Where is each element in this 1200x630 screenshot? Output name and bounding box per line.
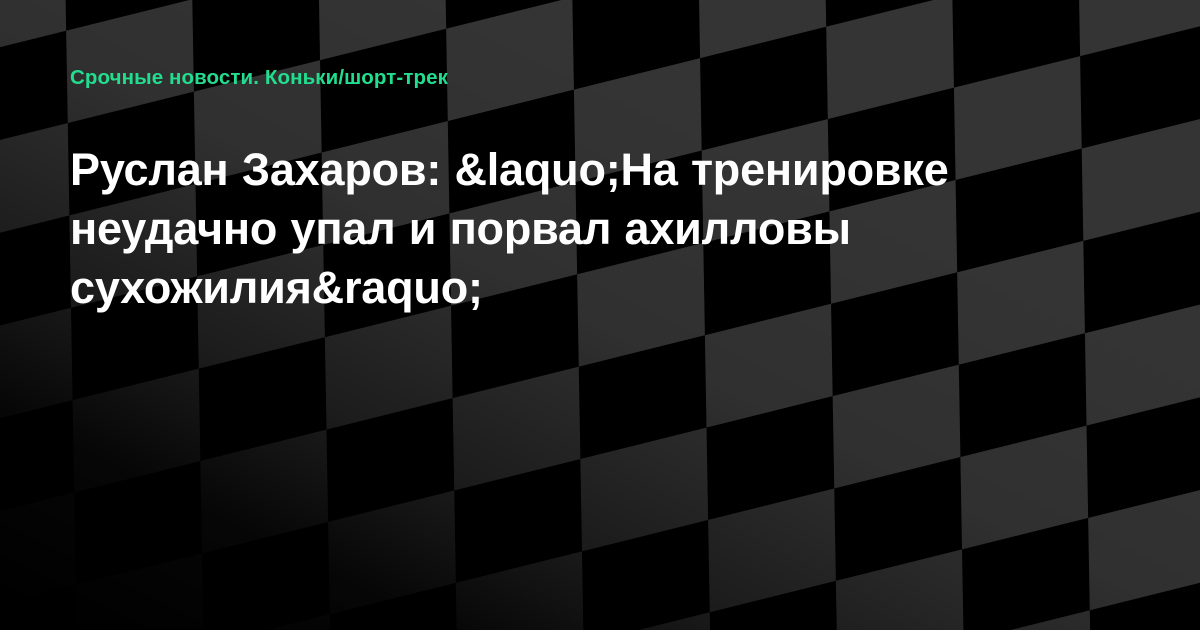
page-title: Руслан Захаров: &laquo;На тренировке неу… [70, 140, 1060, 317]
social-share-card: Срочные новости. Коньки/шорт-трек Руслан… [0, 0, 1200, 630]
card-text-block: Срочные новости. Коньки/шорт-трек Руслан… [70, 64, 1080, 317]
kicker-label: Срочные новости. Коньки/шорт-трек [70, 64, 1080, 92]
